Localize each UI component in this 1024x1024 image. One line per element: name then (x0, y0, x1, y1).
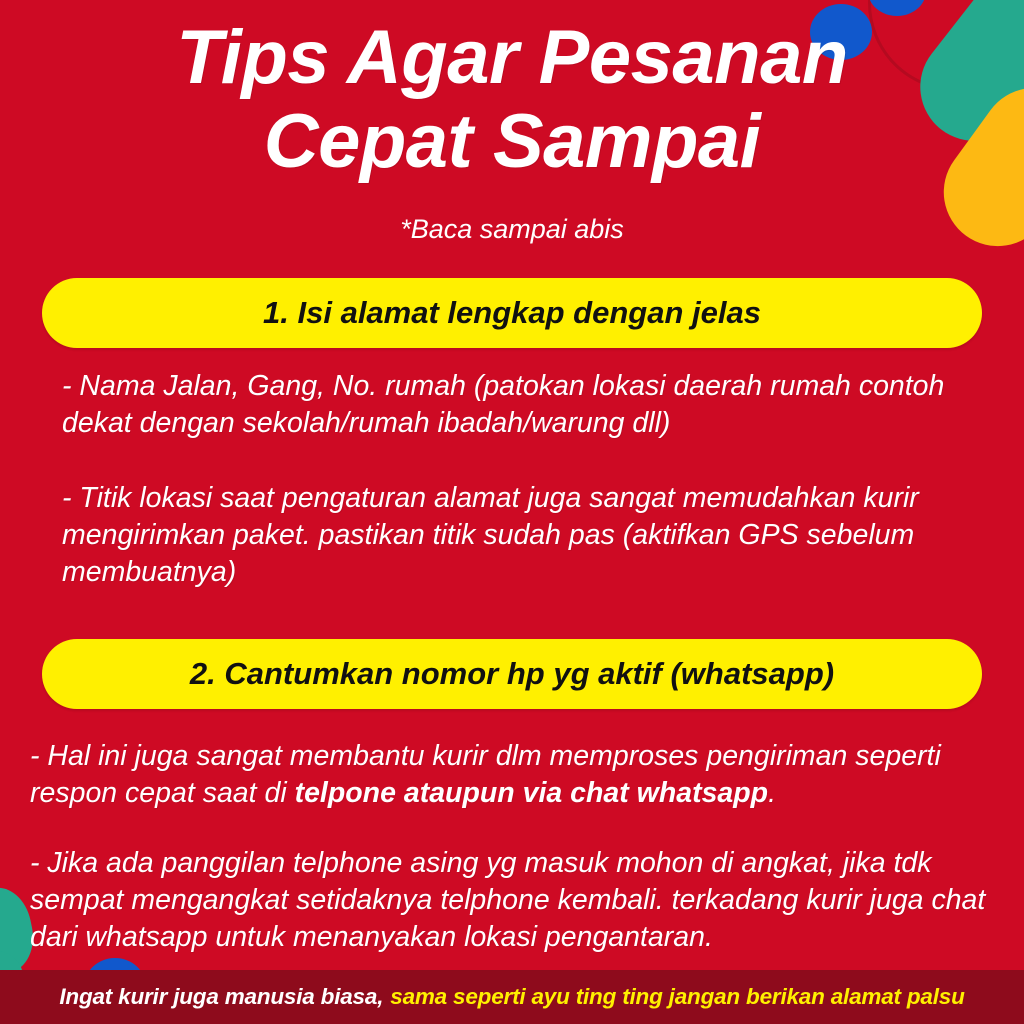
section-2-paragraph-2: - Jika ada panggilan telphone asing yg m… (30, 845, 1015, 956)
section-banner-2-label: 2. Cantumkan nomor hp yg aktif (whatsapp… (190, 656, 834, 692)
section-2-paragraph-1-plain-end: . (768, 777, 776, 809)
section-1-paragraph-2: - Titik lokasi saat pengaturan alamat ju… (62, 480, 982, 591)
footer-text-white: Ingat kurir juga manusia biasa, (59, 984, 383, 1010)
footer-bar: Ingat kurir juga manusia biasa, sama sep… (0, 970, 1024, 1024)
promo-poster: Tips Agar Pesanan Cepat Sampai *Baca sam… (0, 0, 1024, 1024)
section-2-paragraph-1: - Hal ini juga sangat membantu kurir dlm… (30, 738, 1010, 812)
section-2-paragraph-1-emphasis: telpone ataupun via chat whatsapp (295, 777, 769, 809)
section-1-paragraph-1: - Nama Jalan, Gang, No. rumah (patokan l… (62, 368, 972, 442)
subtitle: *Baca sampai abis (0, 213, 1024, 245)
section-banner-2: 2. Cantumkan nomor hp yg aktif (whatsapp… (42, 639, 982, 709)
title-line-1: Tips Agar Pesanan (0, 16, 1024, 100)
section-banner-1-label: 1. Isi alamat lengkap dengan jelas (263, 295, 761, 331)
footer-text-yellow: sama seperti ayu ting ting jangan berika… (390, 984, 964, 1010)
page-title: Tips Agar Pesanan Cepat Sampai (0, 16, 1024, 184)
title-line-2: Cepat Sampai (0, 100, 1024, 184)
section-banner-1: 1. Isi alamat lengkap dengan jelas (42, 278, 982, 348)
poster-content: Tips Agar Pesanan Cepat Sampai *Baca sam… (0, 0, 1024, 1024)
